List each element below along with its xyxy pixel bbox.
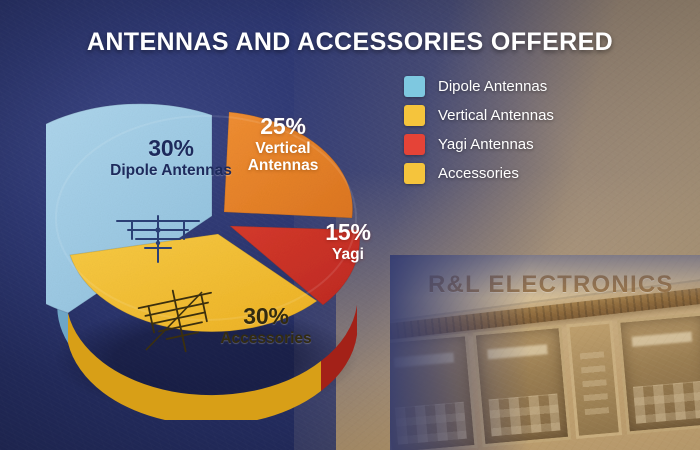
legend-item-accessories[interactable]: Accessories — [404, 159, 654, 188]
pie-slices — [46, 104, 360, 332]
storefront-photo: R&L ELECTRONICS — [390, 255, 700, 450]
legend-swatch-icon — [404, 76, 425, 97]
legend-item-vertical-antennas[interactable]: Vertical Antennas — [404, 101, 654, 130]
pie-chart: 30% Dipole Antennas 25% Vertical Antenna… — [46, 70, 386, 420]
storefront-fade-overlay — [390, 255, 700, 450]
legend-item-label: Dipole Antennas — [438, 78, 547, 95]
legend-item-label: Yagi Antennas — [438, 136, 534, 153]
page-title: ANTENNAS AND ACCESSORIES OFFERED — [0, 28, 700, 57]
legend-item-label: Vertical Antennas — [438, 107, 554, 124]
legend-swatch-icon — [404, 163, 425, 184]
legend-item-yagi-antennas[interactable]: Yagi Antennas — [404, 130, 654, 159]
legend-item-label: Accessories — [438, 165, 519, 182]
chart-legend: Dipole Antennas Vertical Antennas Yagi A… — [404, 72, 654, 188]
legend-swatch-icon — [404, 105, 425, 126]
legend-item-dipole-antennas[interactable]: Dipole Antennas — [404, 72, 654, 101]
pie-chart-svg — [46, 70, 386, 420]
legend-swatch-icon — [404, 134, 425, 155]
